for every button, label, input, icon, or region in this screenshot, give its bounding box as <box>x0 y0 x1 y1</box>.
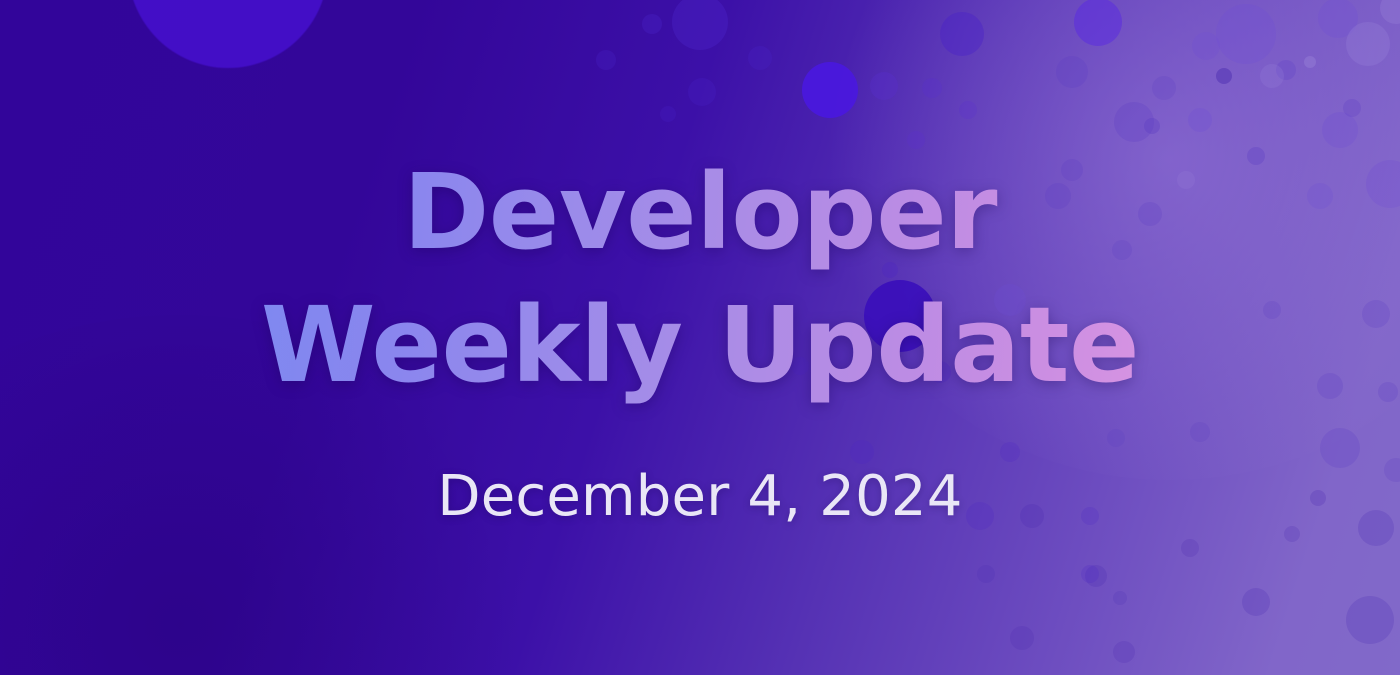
slide-content: Developer Weekly Update December 4, 2024 <box>0 0 1400 675</box>
title-slide: Developer Weekly Update December 4, 2024 <box>0 0 1400 675</box>
slide-date: December 4, 2024 <box>437 464 962 529</box>
title-line-1: Developer <box>261 146 1139 279</box>
title-line-2: Weekly Update <box>261 279 1139 412</box>
page-title: Developer Weekly Update <box>251 146 1149 412</box>
